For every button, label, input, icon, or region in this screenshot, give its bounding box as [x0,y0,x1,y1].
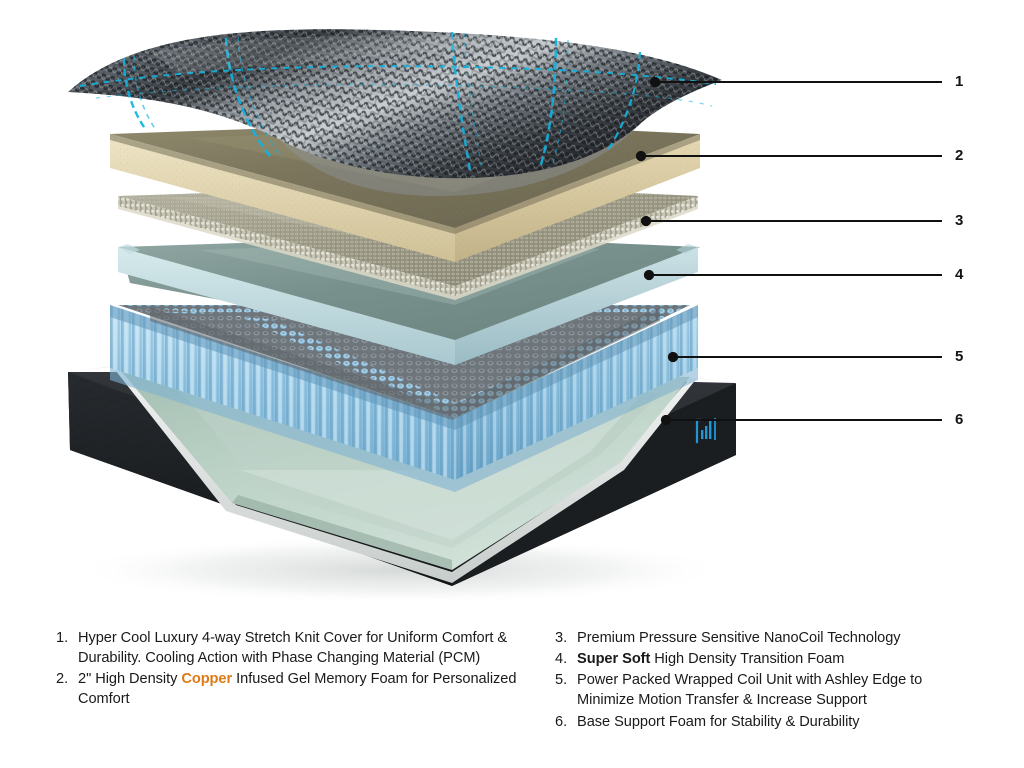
callout-number-6: 6 [955,411,964,428]
legend-item-marker: 5. [555,670,577,690]
legend-item-text: Premium Pressure Sensitive NanoCoil Tech… [577,628,901,648]
legend-item-text: Power Packed Wrapped Coil Unit with Ashl… [577,670,968,710]
legend-text-segment: Base Support Foam for Stability & Durabi… [577,714,860,730]
legend-item: 5.Power Packed Wrapped Coil Unit with As… [555,670,968,710]
legend-text-segment: Hyper Cool Luxury 4-way Stretch Knit Cov… [78,630,507,666]
callout-number-1: 1 [955,73,964,90]
legend-item-marker: 6. [555,712,577,732]
legend-item: 2.2" High Density Copper Infused Gel Mem… [56,669,517,709]
legend-text-segment: 2" High Density [78,671,181,687]
legend-item-marker: 2. [56,669,78,689]
callout-number-3: 3 [955,212,964,229]
diagram-illustration [0,0,1024,620]
legend-item: 1.Hyper Cool Luxury 4-way Stretch Knit C… [56,628,517,668]
mattress-exploded-diagram: 1 2 3 4 5 6 [0,0,1024,620]
legend-item-text: Hyper Cool Luxury 4-way Stretch Knit Cov… [78,628,517,668]
legend-column-right: 3.Premium Pressure Sensitive NanoCoil Te… [555,628,968,768]
callout-number-5: 5 [955,348,964,365]
legend-item-text: 2" High Density Copper Infused Gel Memor… [78,669,517,709]
callout-number-2: 2 [955,147,964,164]
legend-item-marker: 1. [56,628,78,648]
legend-column-left: 1.Hyper Cool Luxury 4-way Stretch Knit C… [56,628,517,768]
legend-item-text: Super Soft High Density Transition Foam [577,649,844,669]
legend-item-text: Base Support Foam for Stability & Durabi… [577,712,860,732]
legend-highlight-bold: Super Soft [577,651,650,667]
legend-text-segment: High Density Transition Foam [650,651,844,667]
legend-text-segment: Premium Pressure Sensitive NanoCoil Tech… [577,630,901,646]
legend-item: 3.Premium Pressure Sensitive NanoCoil Te… [555,628,968,648]
legend: 1.Hyper Cool Luxury 4-way Stretch Knit C… [0,628,1024,768]
callout-number-4: 4 [955,266,964,283]
legend-item: 4.Super Soft High Density Transition Foa… [555,649,968,669]
legend-item-marker: 4. [555,649,577,669]
legend-highlight-copper: Copper [181,671,232,687]
leader-line-3 [642,217,942,225]
legend-item-marker: 3. [555,628,577,648]
legend-item: 6.Base Support Foam for Stability & Dura… [555,712,968,732]
legend-text-segment: Power Packed Wrapped Coil Unit with Ashl… [577,672,922,708]
leader-line-5 [669,353,942,361]
